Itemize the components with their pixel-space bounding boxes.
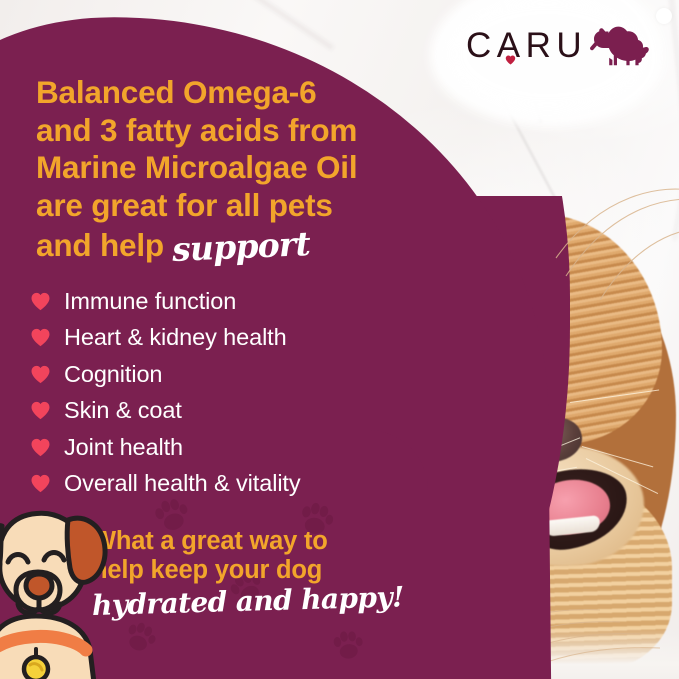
advertisement-canvas: Balanced Omega-6 and 3 fatty acids from … xyxy=(0,0,679,679)
list-item: Heart & kidney health xyxy=(30,320,430,357)
brand-logo-text: CARU xyxy=(466,26,587,66)
list-item-label: Joint health xyxy=(64,436,183,460)
list-item: Skin & coat xyxy=(30,393,430,430)
headline-line-5-plain: and help xyxy=(36,227,172,263)
headline: Balanced Omega-6 and 3 fatty acids from … xyxy=(36,74,456,264)
headline-line-5: and help support xyxy=(36,225,456,265)
headline-line-1: Balanced Omega-6 xyxy=(36,74,456,112)
list-item: Cognition xyxy=(30,356,430,393)
headline-line-4: are great for all pets xyxy=(36,187,456,225)
list-item: Immune function xyxy=(30,283,430,320)
list-item-label: Heart & kidney health xyxy=(64,326,287,350)
benefits-list: Immune function Heart & kidney health Co… xyxy=(30,283,430,502)
heart-icon xyxy=(30,328,51,347)
list-item-label: Skin & coat xyxy=(64,399,182,423)
list-item-label: Cognition xyxy=(64,363,162,387)
cartoon-dog-illustration xyxy=(0,498,134,679)
brand-logo[interactable]: CARU xyxy=(466,24,649,68)
heart-icon xyxy=(30,474,51,493)
list-item-label: Overall health & vitality xyxy=(64,472,301,496)
heart-icon xyxy=(30,401,51,420)
list-item-label: Immune function xyxy=(64,290,236,314)
headline-script-support: support xyxy=(172,224,311,269)
call-to-action: What a great way to help keep your dog h… xyxy=(92,527,422,622)
heart-icon xyxy=(30,365,51,384)
dog-silhouette-icon xyxy=(585,24,649,68)
headline-line-2: and 3 fatty acids from xyxy=(36,112,456,150)
headline-line-3: Marine Microalgae Oil xyxy=(36,149,456,187)
heart-icon xyxy=(30,438,51,457)
list-item: Overall health & vitality xyxy=(30,466,430,503)
cta-script-line: hydrated and happy! xyxy=(92,580,423,622)
heart-icon xyxy=(505,55,516,65)
heart-icon xyxy=(30,292,51,311)
list-item: Joint health xyxy=(30,429,430,466)
cta-line-1: What a great way to xyxy=(92,527,422,556)
